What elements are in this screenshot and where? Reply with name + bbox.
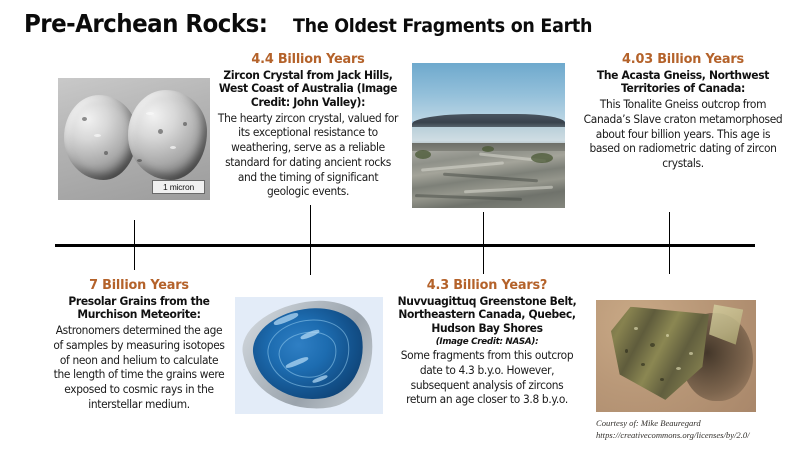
timeline-tick-1 — [134, 220, 135, 270]
timeline-tick-4 — [669, 212, 670, 274]
timeline-tick-3 — [483, 212, 484, 274]
entry-acasta-gneiss-text: 4.03 Billion Years The Acasta Gneiss, No… — [578, 52, 788, 172]
page-title: Pre-Archean Rocks:The Oldest Fragments o… — [24, 9, 618, 38]
acasta-gneiss-rock-photo — [596, 300, 756, 412]
zircon-crystal-cathodoluminescence-image — [235, 297, 383, 414]
entry-presolar-grains-text: 7 Billion Years Presolar Grains from the… — [48, 278, 230, 413]
entry-nuvvuagittuq-text: 4.3 Billion Years? Nuvvuagittuq Greensto… — [392, 278, 582, 408]
age-heading: 7 Billion Years — [53, 278, 226, 294]
slide-canvas: Pre-Archean Rocks:The Oldest Fragments o… — [0, 0, 800, 450]
attribution-line-1: Courtesy of: Mike Beauregard — [596, 418, 701, 429]
entry-zircon-jack-hills-text: 4.4 Billion Years Zircon Crystal from Ja… — [213, 52, 403, 200]
timeline-axis — [55, 244, 755, 247]
entry-body: This Tonalite Gneiss outcrop from Canada… — [583, 98, 783, 172]
presolar-grains-sem-photo: 1 micron — [58, 78, 210, 200]
entry-image-credit: (Image Credit: NASA): — [397, 336, 578, 348]
scale-bar-label: 1 micron — [152, 180, 205, 194]
entry-body: The hearty zircon crystal, valued for it… — [218, 112, 399, 201]
entry-subhead: Nuvvuagittuq Greenstone Belt, Northeaste… — [397, 295, 578, 336]
age-heading: 4.03 Billion Years — [583, 52, 783, 68]
age-heading: 4.4 Billion Years — [218, 52, 399, 68]
entry-subhead: The Acasta Gneiss, Northwest Territories… — [583, 69, 783, 96]
entry-subhead: Zircon Crystal from Jack Hills, West Coa… — [218, 69, 399, 110]
entry-subhead: Presolar Grains from the Murchison Meteo… — [53, 295, 226, 322]
attribution-line-2: https://creativecommons.org/licenses/by/… — [596, 430, 750, 441]
hudson-bay-outcrop-photo — [412, 63, 565, 208]
timeline-tick-2 — [310, 205, 311, 275]
entry-body: Some fragments from this outcrop date to… — [397, 349, 578, 408]
title-subtitle: The Oldest Fragments on Earth — [293, 15, 592, 37]
title-main: Pre-Archean Rocks: — [24, 9, 267, 38]
entry-body: Astronomers determined the age of sample… — [53, 324, 226, 413]
age-heading: 4.3 Billion Years? — [397, 278, 578, 294]
